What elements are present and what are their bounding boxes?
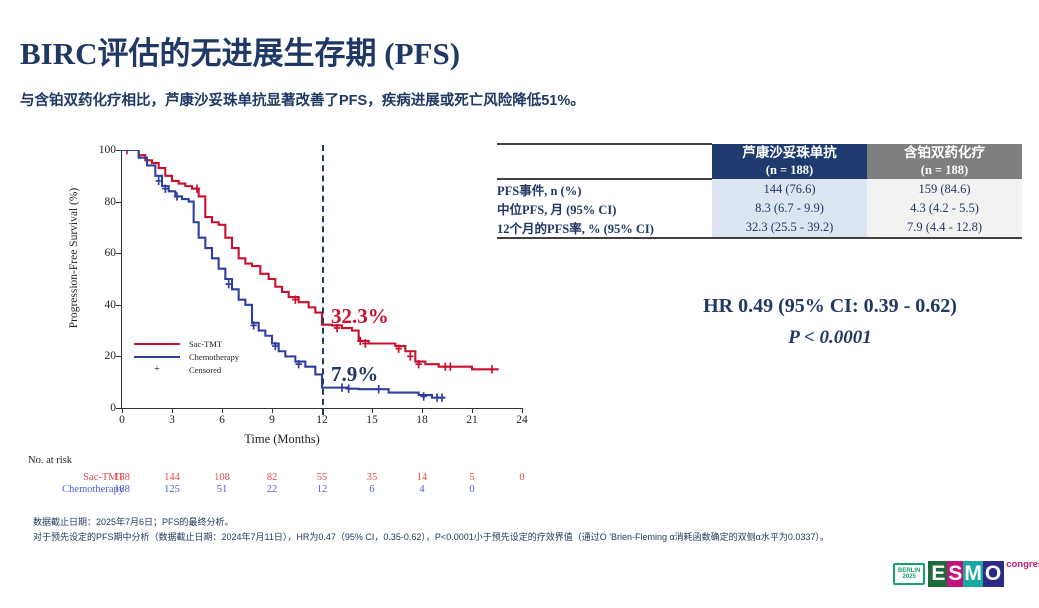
risk-value: 108 xyxy=(214,472,230,483)
table-header-row: 芦康沙妥珠单抗 (n = 188) 含铂双药化疗 (n = 188) xyxy=(497,144,1022,179)
header-arm-sac-tmt: 芦康沙妥珠单抗 (n = 188) xyxy=(712,144,867,179)
table-row-label: 12个月的PFS率, % (95% CI) xyxy=(497,218,712,238)
header-arm-chemo-name: 含铂双药化疗 xyxy=(904,145,985,160)
censor-mark xyxy=(420,392,426,400)
x-tick-mark xyxy=(472,408,473,413)
no-at-risk-table: No. at risk Sac-TMT1881441088255351450Ch… xyxy=(28,455,788,498)
y-tick-label: 40 xyxy=(90,299,116,311)
risk-value: 144 xyxy=(164,472,180,483)
y-axis-label: Progression-Free Survival (%) xyxy=(68,148,80,368)
reference-line-12mo xyxy=(322,145,324,415)
x-tick-label: 21 xyxy=(466,414,478,426)
risk-value: 82 xyxy=(267,472,278,483)
header-arm-sac-tmt-name: 芦康沙妥珠单抗 xyxy=(742,145,837,160)
table-cell-chemo: 159 (84.6) xyxy=(867,179,1022,199)
x-tick-mark xyxy=(372,408,373,413)
risk-value: 0 xyxy=(469,484,474,495)
risk-value: 6 xyxy=(369,484,374,495)
km-chart: Progression-Free Survival (%) Time (Mont… xyxy=(22,140,542,460)
table-cell-chemo: 4.3 (4.2 - 5.5) xyxy=(867,199,1022,218)
x-tick-label: 12 xyxy=(316,414,328,426)
legend-label-sac-tmt: Sac-TMT xyxy=(189,339,222,349)
risk-value: 188 xyxy=(114,472,130,483)
congress-label: congress xyxy=(1006,559,1039,570)
table-cell-sac-tmt: 144 (76.6) xyxy=(712,179,867,199)
esmo-congress-logo: BERLIN 2025 ESMO congress xyxy=(893,561,1039,587)
y-tick-mark xyxy=(116,408,121,409)
header-arm-sac-tmt-n: (n = 188) xyxy=(712,162,867,179)
y-tick-label: 60 xyxy=(90,247,116,259)
table-row: 12个月的PFS率, % (95% CI)32.3 (25.5 - 39.2)7… xyxy=(497,218,1022,238)
legend-item-chemotherapy: Chemotherapy xyxy=(134,350,239,363)
x-tick-mark xyxy=(422,408,423,413)
footnotes: 数据截止日期：2025年7月6日；PFS的最终分析。 对于预先设定的PFS期中分… xyxy=(33,515,1018,545)
legend-swatch-sac-tmt xyxy=(134,343,180,345)
censor-mark xyxy=(155,177,161,185)
x-tick-mark xyxy=(272,408,273,413)
legend-item-sac-tmt: Sac-TMT xyxy=(134,337,239,350)
table-cell-sac-tmt: 8.3 (6.7 - 9.9) xyxy=(712,199,867,218)
table-row-label: 中位PFS, 月 (95% CI) xyxy=(497,199,712,218)
page-subtitle: 与含铂双药化疗相比，芦康沙妥珠单抗显著改善了PFS，疾病进展或死亡风险降低51%… xyxy=(20,89,585,110)
y-tick-label: 80 xyxy=(90,196,116,208)
censor-mark xyxy=(447,363,453,371)
x-tick-mark xyxy=(122,408,123,413)
risk-value: 188 xyxy=(114,484,130,495)
berlin-year: 2025 xyxy=(898,574,920,580)
table-row-label: PFS事件, n (%) xyxy=(497,179,712,199)
esmo-letter-m: M xyxy=(963,561,983,587)
table-cell-sac-tmt: 32.3 (25.5 - 39.2) xyxy=(712,218,867,238)
risk-value: 12 xyxy=(317,484,328,495)
y-tick-label: 20 xyxy=(90,350,116,362)
x-tick-mark xyxy=(172,408,173,413)
annotation-pfs-chemo: 7.9% xyxy=(331,362,378,387)
risk-value: 4 xyxy=(419,484,424,495)
y-tick-mark xyxy=(116,150,121,151)
legend-label-chemotherapy: Chemotherapy xyxy=(189,352,239,362)
y-tick-mark xyxy=(116,305,121,306)
esmo-letter-o: O xyxy=(983,561,1004,587)
hazard-ratio-text: HR 0.49 (95% CI: 0.39 - 0.62) xyxy=(640,295,1020,318)
berlin-2025-badge: BERLIN 2025 xyxy=(893,563,925,586)
x-tick-label: 3 xyxy=(169,414,175,426)
esmo-letter-s: S xyxy=(947,561,963,587)
censor-mark xyxy=(407,352,413,360)
risk-row-label: Sac-TMT xyxy=(28,472,124,483)
risk-value: 51 xyxy=(217,484,228,495)
plus-icon: + xyxy=(134,364,180,375)
y-tick-mark xyxy=(116,253,121,254)
chart-legend: Sac-TMT Chemotherapy + Censored xyxy=(134,337,239,376)
legend-item-censored: + Censored xyxy=(134,363,239,376)
p-value-text: P < 0.0001 xyxy=(640,327,1020,349)
censor-mark xyxy=(225,280,231,288)
x-axis-label: Time (Months) xyxy=(22,432,542,447)
statistics-block: HR 0.49 (95% CI: 0.39 - 0.62) P < 0.0001 xyxy=(640,295,1020,349)
x-tick-label: 6 xyxy=(219,414,225,426)
risk-value: 55 xyxy=(317,472,328,483)
table-row: 中位PFS, 月 (95% CI)8.3 (6.7 - 9.9)4.3 (4.2… xyxy=(497,199,1022,218)
censor-mark xyxy=(489,365,495,373)
risk-row-label: Chemotherapy xyxy=(28,484,124,495)
risk-value: 0 xyxy=(519,472,524,483)
header-arm-chemo-n: (n = 188) xyxy=(867,162,1022,179)
x-tick-label: 15 xyxy=(366,414,378,426)
summary-table: 芦康沙妥珠单抗 (n = 188) 含铂双药化疗 (n = 188) PFS事件… xyxy=(497,143,1022,239)
no-at-risk-title: No. at risk xyxy=(28,455,788,466)
y-tick-label: 100 xyxy=(90,144,116,156)
footnote-line-2: 对于预先设定的PFS期中分析（数据截止日期：2024年7月11日），HR为0.4… xyxy=(33,530,1018,545)
risk-value: 14 xyxy=(417,472,428,483)
risk-value: 35 xyxy=(367,472,378,483)
esmo-letter-e: E xyxy=(928,561,947,587)
y-tick-mark xyxy=(116,202,121,203)
page-title: BIRC评估的无进展生存期 (PFS) xyxy=(20,28,460,73)
table-row: PFS事件, n (%)144 (76.6)159 (84.6) xyxy=(497,179,1022,199)
esmo-wordmark: ESMO xyxy=(928,561,1004,587)
risk-value: 22 xyxy=(267,484,278,495)
x-tick-mark xyxy=(222,408,223,413)
table-cell-chemo: 7.9 (4.4 - 12.8) xyxy=(867,218,1022,238)
legend-label-censored: Censored xyxy=(189,365,221,375)
annotation-pfs-sac: 32.3% xyxy=(331,304,389,329)
risk-value: 5 xyxy=(469,472,474,483)
x-tick-label: 18 xyxy=(416,414,428,426)
footnote-line-1: 数据截止日期：2025年7月6日；PFS的最终分析。 xyxy=(33,515,1018,530)
risk-value: 125 xyxy=(164,484,180,495)
censor-mark xyxy=(439,393,445,401)
x-tick-label: 0 xyxy=(119,414,125,426)
header-arm-chemo: 含铂双药化疗 (n = 188) xyxy=(867,144,1022,179)
x-tick-mark xyxy=(522,408,523,413)
header-blank xyxy=(497,144,712,179)
slide: BIRC评估的无进展生存期 (PFS) 与含铂双药化疗相比，芦康沙妥珠单抗显著改… xyxy=(0,0,1039,608)
legend-swatch-chemotherapy xyxy=(134,356,180,358)
x-tick-label: 9 xyxy=(269,414,275,426)
x-tick-label: 24 xyxy=(516,414,528,426)
y-tick-mark xyxy=(116,356,121,357)
y-tick-label: 0 xyxy=(90,402,116,414)
